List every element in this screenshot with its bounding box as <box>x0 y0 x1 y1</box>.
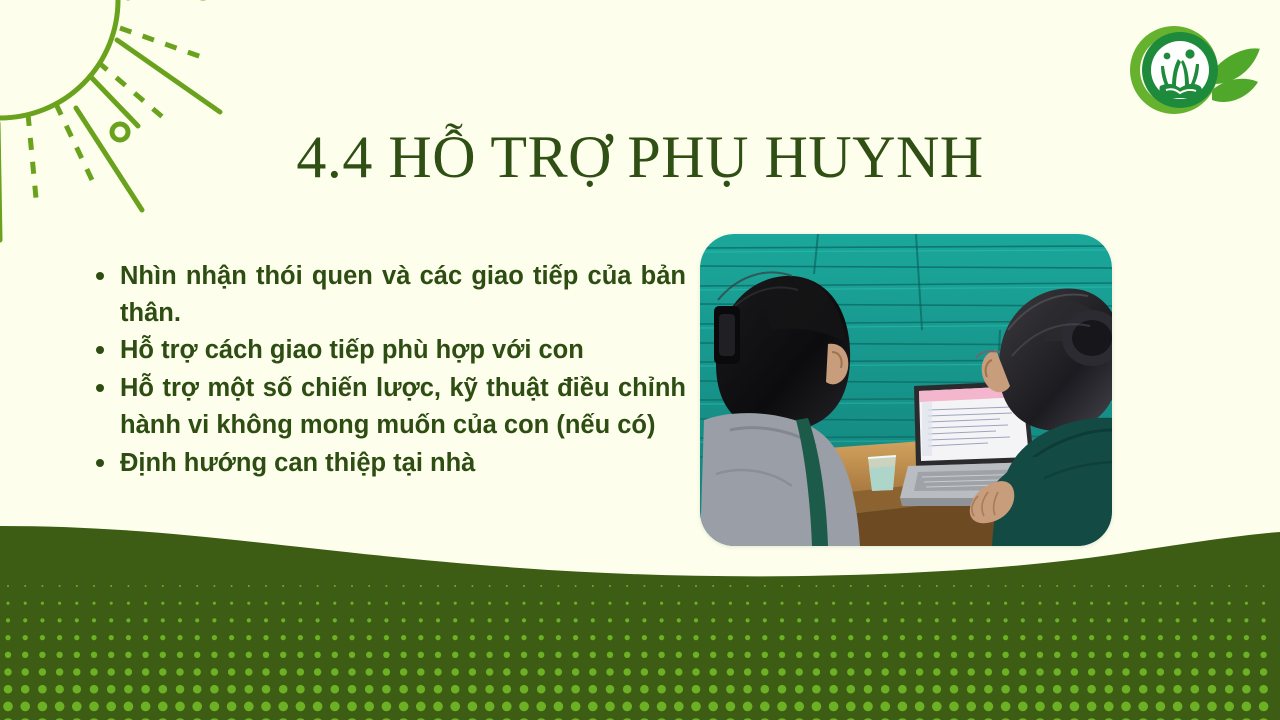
dot-pattern <box>3 585 1269 720</box>
page-title: 4.4 HỖ TRỢ PHỤ HUYNH <box>0 126 1280 189</box>
list-item: Định hướng can thiệp tại nhà <box>86 445 686 482</box>
photo-two-women-with-laptop <box>700 234 1112 546</box>
bullet-list: Nhìn nhận thói quen và các giao tiếp của… <box>86 258 686 482</box>
bullet-point-icon <box>96 459 104 467</box>
bullet-point-icon <box>96 272 104 280</box>
presentation-slide: 4.4 HỖ TRỢ PHỤ HUYNH Nhìn nhận thói quen… <box>0 0 1280 720</box>
bullet-point-icon <box>96 384 104 392</box>
list-item-label: Hỗ trợ một số chiến lược, kỹ thuật điều … <box>120 374 686 439</box>
list-item: Nhìn nhận thói quen và các giao tiếp của… <box>86 258 686 331</box>
list-item-label: Hỗ trợ cách giao tiếp phù hợp với con <box>120 336 584 364</box>
glass-of-water <box>868 456 896 491</box>
organization-logo <box>1112 14 1262 126</box>
bullet-point-icon <box>96 346 104 354</box>
list-item-label: Nhìn nhận thói quen và các giao tiếp của… <box>120 262 686 327</box>
list-item-label: Định hướng can thiệp tại nhà <box>120 449 475 477</box>
list-item: Hỗ trợ cách giao tiếp phù hợp với con <box>86 332 686 369</box>
list-item: Hỗ trợ một số chiến lược, kỹ thuật điều … <box>86 370 686 443</box>
